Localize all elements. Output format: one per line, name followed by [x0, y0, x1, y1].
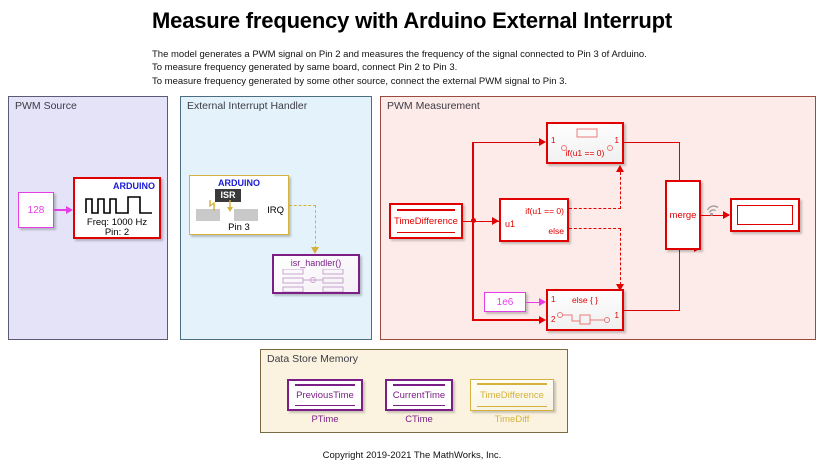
wire-if-action-to-merge: [624, 142, 680, 144]
isr-pin-label: Pin 3: [190, 222, 288, 233]
group-external-interrupt-title: External Interrupt Handler: [187, 100, 307, 112]
group-pwm-source-title: PWM Source: [15, 100, 77, 112]
constant-block-128[interactable]: 128: [18, 192, 54, 228]
description-line-1: The model generates a PWM signal on Pin …: [152, 48, 752, 61]
action-wire-cond-h: [569, 208, 621, 209]
if-block-else-output-label: else: [548, 226, 564, 236]
isr-handler-subsystem-block[interactable]: isr_handler(): [272, 254, 360, 294]
wire-trunk-up: [472, 142, 474, 221]
page-title: Measure frequency with Arduino External …: [0, 8, 824, 34]
timediff-line-bottom: [477, 406, 547, 408]
arrowhead-if-action-enable: [616, 165, 624, 172]
data-store-memory-currenttime[interactable]: CurrentTime: [385, 379, 453, 411]
else-action-subsystem-block[interactable]: 1 2 1 else { }: [546, 289, 624, 331]
description-line-2: To measure frequency generated by same b…: [152, 61, 752, 74]
data-store-read-timedifference[interactable]: TimeDifference: [389, 203, 463, 239]
display-readout: [737, 205, 793, 225]
group-data-store-memory-title: Data Store Memory: [267, 353, 358, 365]
arrowhead-pwm-input: [66, 206, 73, 214]
action-wire-else-h: [569, 228, 621, 229]
isr-vendor-label: ARDUINO: [190, 178, 288, 188]
arrowhead-if-u1-input: [492, 217, 499, 225]
wire-irq-horizontal: [289, 205, 316, 206]
group-pwm-measurement-title: PWM Measurement: [387, 100, 480, 112]
wire-else-action-to-merge-v: [679, 248, 681, 310]
if-action-subsystem-block[interactable]: 1 1 if(u1 == 0): [546, 122, 624, 164]
action-wire-else-v: [620, 228, 621, 285]
wire-else-action-to-merge: [624, 310, 680, 312]
arrowhead-else-action-port1: [539, 298, 546, 306]
constant-block-1e6[interactable]: 1e6: [484, 292, 526, 312]
merge-block[interactable]: merge: [665, 180, 701, 250]
subsystem-preview-icon: [281, 269, 355, 293]
arrowhead-display-input: [723, 211, 730, 219]
wire-irq-vertical: [315, 205, 316, 249]
pwm-vendor-label: ARDUINO: [113, 181, 155, 191]
ds-read-line-bottom: [397, 232, 455, 234]
else-action-preview-icon: [556, 309, 620, 329]
display-block[interactable]: [730, 198, 800, 232]
merge-label: merge: [667, 182, 699, 248]
if-block[interactable]: u1 if(u1 == 0) else: [499, 198, 569, 242]
pwm-pin-label: Pin: 2: [75, 227, 159, 238]
ptime-line-bottom: [295, 405, 355, 407]
ctime-line-bottom: [393, 405, 445, 407]
constant-1e6-value: 1e6: [485, 293, 525, 311]
arrowhead-else-action-port2: [539, 316, 546, 324]
copyright-text: Copyright 2019-2021 The MathWorks, Inc.: [0, 450, 824, 461]
if-action-label: if(u1 == 0): [548, 148, 622, 158]
if-block-cond-output-label: if(u1 == 0): [525, 206, 564, 216]
timediff-caption: TimeDiff: [470, 414, 554, 425]
data-store-memory-previoustime[interactable]: PreviousTime: [287, 379, 363, 411]
ctime-caption: CTime: [385, 414, 453, 425]
signal-logging-icon[interactable]: [705, 201, 721, 217]
wire-to-if-action-subsystem: [472, 142, 544, 144]
diagram-canvas: Measure frequency with Arduino External …: [0, 0, 824, 472]
isr-trigger-arrows-icon: [208, 199, 258, 213]
wire-trunk-down: [472, 220, 474, 320]
description-line-3: To measure frequency generated by some o…: [152, 75, 752, 88]
description-text: The model generates a PWM signal on Pin …: [152, 48, 752, 88]
else-action-label: else { }: [548, 295, 622, 305]
arduino-pwm-block[interactable]: ARDUINO Freq: 1000 Hz Pin: 2: [73, 177, 161, 239]
arduino-isr-block[interactable]: ARDUINO ISR IRQ Pin 3: [189, 175, 289, 235]
if-block-input-label: u1: [505, 219, 515, 229]
ptime-caption: PTime: [287, 414, 363, 425]
pwm-waveform-icon: [84, 193, 154, 215]
arrowhead-isr-handler-trigger: [311, 247, 319, 254]
isr-irq-label: IRQ: [267, 205, 284, 216]
else-action-in-port2-number: 2: [551, 315, 555, 324]
action-wire-cond-v: [620, 172, 621, 209]
data-store-memory-timedifference[interactable]: TimeDifference: [470, 379, 554, 411]
constant-128-value: 128: [19, 193, 53, 227]
isr-handler-label: isr_handler(): [274, 258, 358, 268]
arrowhead-if-action-input: [539, 138, 546, 146]
wire-to-else-action-port2: [472, 319, 544, 321]
